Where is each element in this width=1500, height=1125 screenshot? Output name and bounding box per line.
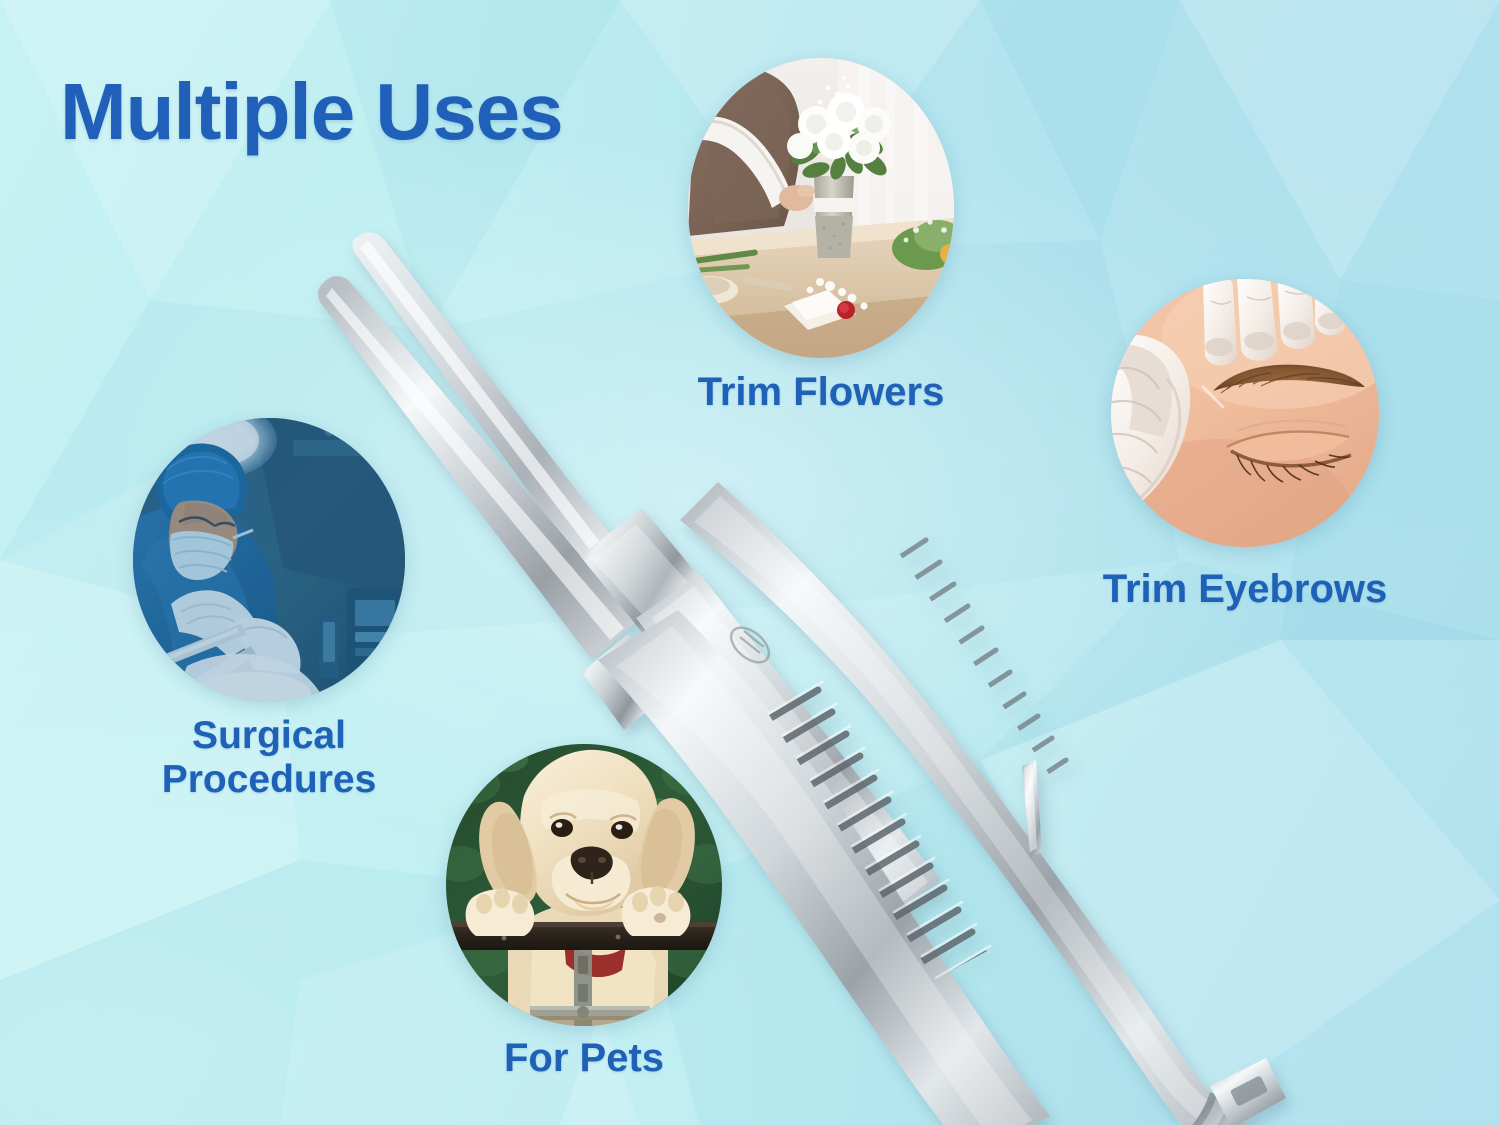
feature-label-for-pets: For Pets	[504, 1036, 664, 1081]
feature-trim-flowers: Trim Flowers	[688, 58, 954, 358]
feature-surgical-procedures: Surgical Procedures	[133, 418, 405, 702]
feature-label-surgical-procedures: Surgical Procedures	[162, 714, 377, 801]
infographic-canvas: Multiple Uses	[0, 0, 1500, 1125]
feature-image-trim-eyebrows	[1111, 279, 1379, 547]
feature-image-trim-flowers	[688, 58, 954, 358]
feature-label-trim-eyebrows: Trim Eyebrows	[1103, 567, 1388, 612]
feature-for-pets: For Pets	[446, 744, 722, 1026]
feature-image-surgical-procedures	[133, 418, 405, 702]
page-title: Multiple Uses	[60, 72, 563, 152]
feature-trim-eyebrows: Trim Eyebrows	[1111, 279, 1379, 547]
eyebrow-grooming-photo	[1111, 279, 1379, 547]
feature-image-for-pets	[446, 744, 722, 1026]
surgeon-operating-photo	[133, 418, 405, 702]
labrador-puppy-photo	[446, 744, 722, 1026]
flower-bouquet-photo	[688, 58, 954, 358]
feature-label-trim-flowers: Trim Flowers	[698, 370, 945, 415]
